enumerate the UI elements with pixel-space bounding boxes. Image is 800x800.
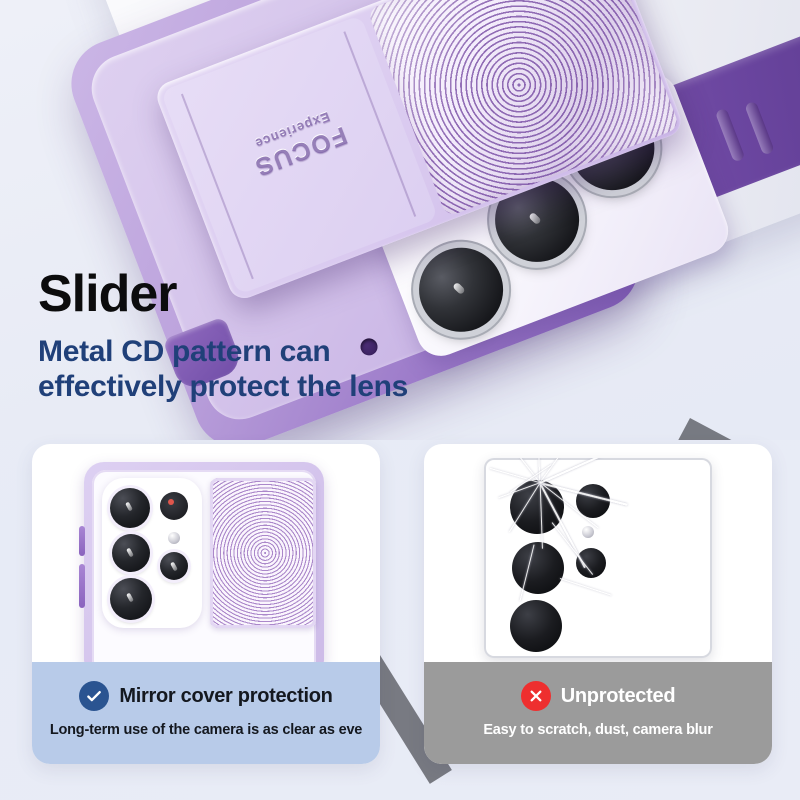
crack-line xyxy=(560,578,612,596)
headings-block: Slider Metal CD pattern can effectively … xyxy=(38,268,408,405)
camera-lens xyxy=(407,235,516,344)
check-circle-icon xyxy=(79,681,109,711)
subtitle-line-2: effectively protect the lens xyxy=(38,369,408,404)
unprotected-title: Unprotected xyxy=(561,685,675,708)
brand-emboss: FOCUS Experience xyxy=(201,89,393,196)
camera-lens xyxy=(160,552,188,580)
camera-block xyxy=(102,478,202,628)
flash-module xyxy=(576,484,610,518)
protected-title: Mirror cover protection xyxy=(119,685,332,708)
bare-phone-mock xyxy=(484,458,712,658)
grip-notch xyxy=(715,108,746,163)
comparison-cards: Mirror cover protection Long-term use of… xyxy=(0,440,800,800)
product-feature-page: FOCUS Experience Slider Metal CD pattern… xyxy=(0,0,800,800)
protected-phone-photo xyxy=(32,444,380,662)
cased-phone-mock xyxy=(84,462,324,662)
side-button xyxy=(79,526,85,556)
comparison-card-unprotected: Unprotected Easy to scratch, dust, camer… xyxy=(424,444,772,764)
page-subtitle: Metal CD pattern can effectively protect… xyxy=(38,334,408,405)
unprotected-label-band: Unprotected Easy to scratch, dust, camer… xyxy=(424,662,772,764)
camera-lens xyxy=(110,578,152,620)
grip-notch xyxy=(744,101,775,156)
phone-back-panel xyxy=(92,470,316,662)
unprotected-phone-photo xyxy=(424,444,772,662)
camera-lens xyxy=(112,534,150,572)
protected-label-band: Mirror cover protection Long-term use of… xyxy=(32,662,380,764)
comparison-card-protected: Mirror cover protection Long-term use of… xyxy=(32,444,380,764)
subtitle-line-1: Metal CD pattern can xyxy=(38,334,408,369)
crack-pattern xyxy=(540,482,541,483)
protected-subtitle: Long-term use of the camera is as clear … xyxy=(32,722,380,738)
flash-module xyxy=(160,492,188,520)
laser-sensor xyxy=(582,526,594,538)
camera-lens xyxy=(110,488,150,528)
crack-line xyxy=(540,458,605,483)
camera-lens xyxy=(512,542,564,594)
unprotected-title-row: Unprotected xyxy=(424,662,772,722)
laser-sensor xyxy=(168,532,180,544)
camera-lens xyxy=(510,600,562,652)
unprotected-subtitle: Easy to scratch, dust, camera blur xyxy=(424,722,772,738)
side-button xyxy=(79,564,85,608)
protected-title-row: Mirror cover protection xyxy=(32,662,380,722)
x-circle-icon xyxy=(521,681,551,711)
metal-cd-slider-closed[interactable] xyxy=(210,478,316,628)
page-title: Slider xyxy=(38,268,408,320)
